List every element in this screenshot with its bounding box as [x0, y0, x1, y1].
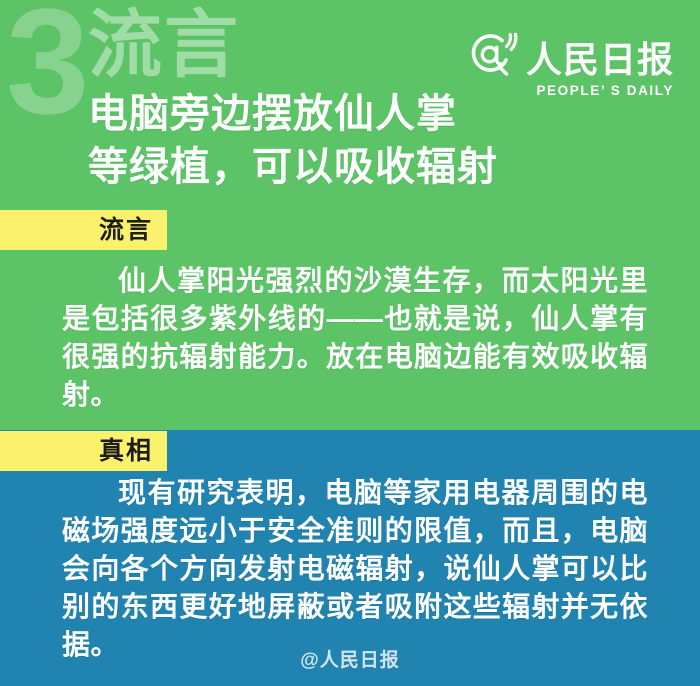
truth-tag-badge: 真相 [0, 431, 167, 471]
truth-body-text: 现有研究表明，电脑等家用电器周围的电磁场强度远小于安全准则的限值，而且，电脑会向… [62, 474, 648, 664]
page-title: 电脑旁边摆放仙人掌 等绿植，可以吸收辐射 [88, 88, 608, 194]
brand-name-cn: 人民日报 [526, 42, 674, 80]
ghost-section-word: 流言 [88, 8, 240, 82]
footer-watermark: @人民日报 [0, 645, 700, 672]
brand-logo-row: 人民日报 [468, 28, 674, 80]
infographic-poster: 3 流言 电脑旁边摆放仙人掌 等绿植，可以吸收辐射 [0, 0, 700, 686]
brand-logo: 人民日报 PEOPLE’ S DAILY [468, 28, 676, 98]
at-sign-with-signal-icon [468, 28, 520, 80]
rumor-body-text: 仙人掌阳光强烈的沙漠生存，而太阳光里是包括很多紫外线的——也就是说，仙人掌有很强… [62, 262, 648, 414]
truth-tag-label: 真相 [99, 439, 153, 464]
poster-header: 3 流言 电脑旁边摆放仙人掌 等绿植，可以吸收辐射 [0, 0, 700, 211]
rumor-section: 仙人掌阳光强烈的沙漠生存，而太阳光里是包括很多紫外线的——也就是说，仙人掌有很强… [0, 250, 700, 430]
rumor-tag-badge: 流言 [0, 210, 167, 250]
page-title-line-2: 等绿植，可以吸收辐射 [88, 141, 608, 194]
brand-name-en: PEOPLE’ S DAILY [468, 84, 676, 98]
rumor-tag-label: 流言 [99, 218, 153, 243]
item-number-watermark: 3 [6, 0, 87, 136]
